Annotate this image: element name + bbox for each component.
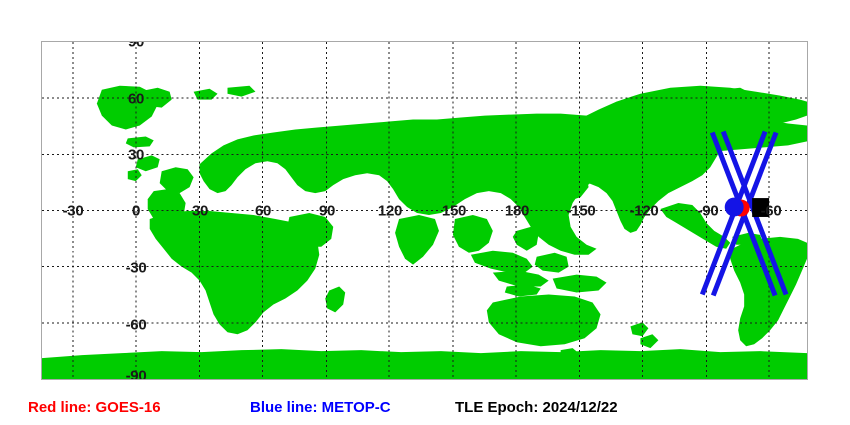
lat-tick--60: -60 xyxy=(126,317,147,332)
lon-tick-90: 90 xyxy=(319,204,335,219)
satellite-ground-track-view: -30 0 30 60 90 120 150 180 -150 -120 -90… xyxy=(0,0,850,425)
lat-tick--30: -30 xyxy=(126,261,147,276)
lat-tick-30: 30 xyxy=(128,148,144,163)
lon-tick--150: -150 xyxy=(567,204,596,219)
lon-tick-150: 150 xyxy=(442,204,466,219)
lon-tick--60: -60 xyxy=(761,204,782,219)
lat-tick-60: 60 xyxy=(128,91,144,106)
legend-tle-epoch: TLE Epoch: 2024/12/22 xyxy=(455,400,618,415)
lon-tick-30: 30 xyxy=(192,204,208,219)
legend-blue-line-metopc: Blue line: METOP-C xyxy=(250,400,391,415)
orbit-track-layer xyxy=(42,42,807,379)
legend-red-line-goes16: Red line: GOES-16 xyxy=(28,400,161,415)
lat-tick-90: 90 xyxy=(128,41,144,50)
lat-tick-0: 0 xyxy=(132,204,140,219)
lon-tick--120: -120 xyxy=(630,204,659,219)
metopc-marker xyxy=(725,198,744,217)
legend-footer: Red line: GOES-16 Blue line: METOP-C TLE… xyxy=(0,392,850,425)
lat-tick--90: -90 xyxy=(126,369,147,381)
world-map-plot: -30 0 30 60 90 120 150 180 -150 -120 -90… xyxy=(41,41,808,380)
lon-tick-180: 180 xyxy=(505,204,529,219)
lon-tick-60: 60 xyxy=(255,204,271,219)
lon-tick--90: -90 xyxy=(698,204,719,219)
lon-tick-120: 120 xyxy=(378,204,402,219)
lon-tick--30: -30 xyxy=(63,204,84,219)
